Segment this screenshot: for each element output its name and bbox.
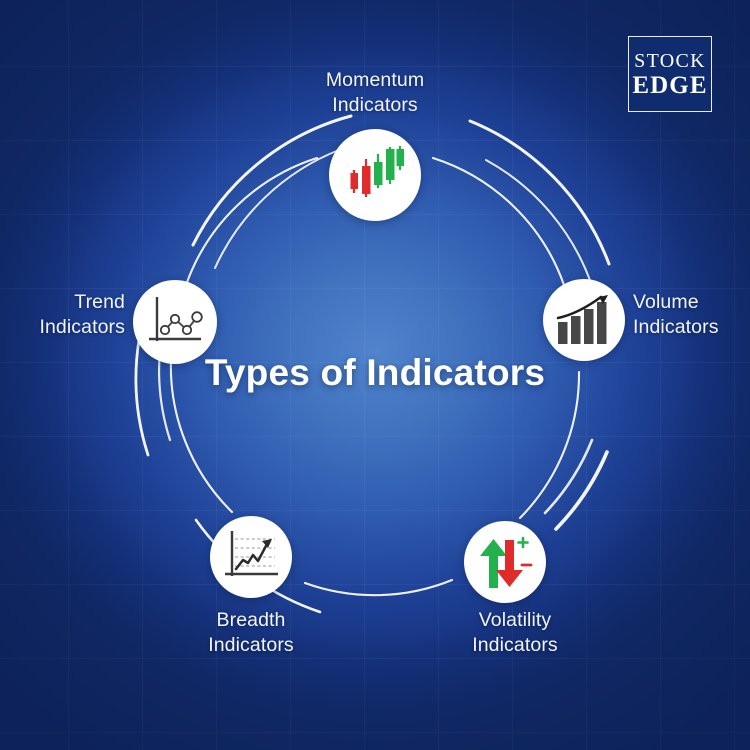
label-trend-line2: Indicators — [0, 315, 125, 340]
label-volume-line1: Volume — [633, 290, 750, 315]
stock-edge-logo[interactable]: STOCK EDGE — [628, 36, 712, 112]
candlestick-chart-icon — [344, 144, 406, 206]
label-volume: Volume Indicators — [633, 290, 750, 340]
line-chart-arrow-icon — [222, 530, 280, 584]
logo-line-edge: EDGE — [632, 73, 707, 98]
label-breadth: Breadth Indicators — [168, 608, 334, 658]
label-volatility-line1: Volatility — [432, 608, 598, 633]
page-title: Types of Indicators — [0, 352, 750, 394]
bar-chart-arrow-icon — [556, 294, 612, 346]
node-breadth[interactable] — [210, 516, 292, 598]
scatter-line-chart-icon — [146, 295, 204, 349]
label-breadth-line2: Indicators — [168, 633, 334, 658]
label-volatility-line2: Indicators — [432, 633, 598, 658]
logo-line-stock: STOCK — [634, 51, 706, 71]
label-trend: Trend Indicators — [0, 290, 125, 340]
label-trend-line1: Trend — [0, 290, 125, 315]
label-momentum-line1: Momentum — [285, 68, 465, 93]
label-breadth-line1: Breadth — [168, 608, 334, 633]
node-volume[interactable] — [543, 279, 625, 361]
label-volume-line2: Indicators — [633, 315, 750, 340]
node-momentum[interactable] — [329, 129, 421, 221]
node-volatility[interactable] — [464, 521, 546, 603]
label-volatility: Volatility Indicators — [432, 608, 598, 658]
up-down-arrows-icon — [476, 534, 534, 590]
label-momentum-line2: Indicators — [285, 93, 465, 118]
infographic-canvas: Momentum Indicators Volume Indicators — [0, 0, 750, 750]
label-momentum: Momentum Indicators — [285, 68, 465, 118]
